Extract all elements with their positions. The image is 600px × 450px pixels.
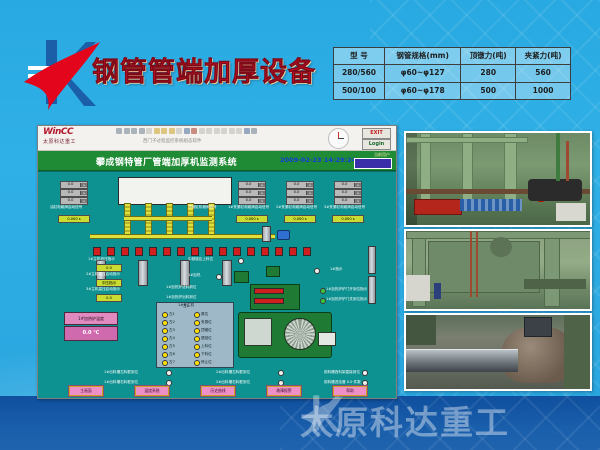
sensor-a1-label: 1#出料槽左料框到位 <box>104 371 138 375</box>
wincc-toolbar: WinCC 太原科达重工 <box>38 126 396 151</box>
redo-icon[interactable] <box>191 128 197 134</box>
slide-root: 钢管管端加厚设备 型 号 钢管规格(mm) 顶镦力(吨) 夹紧力(吨) 280/… <box>0 0 600 450</box>
cut-icon[interactable] <box>154 128 160 134</box>
photo-press-machine <box>404 229 592 311</box>
light-2-label: 1#加热炉炉门关到位指示 <box>326 298 367 302</box>
print-icon[interactable] <box>139 128 145 134</box>
flywheel-graphic <box>284 318 316 350</box>
left-reading: 0.000 s <box>58 215 90 223</box>
cylinder <box>222 260 232 286</box>
cylinder <box>138 260 148 286</box>
motor-graphic <box>277 230 290 240</box>
list-panel-title: 1#号主机 <box>178 304 194 308</box>
readout-box: 0.0s <box>60 181 88 189</box>
readout-box: 0.0s <box>60 197 88 205</box>
cell-clamp: 560 <box>516 65 571 82</box>
undo-icon[interactable] <box>184 128 190 134</box>
clock-icon <box>328 128 349 149</box>
grid-icon[interactable] <box>221 128 227 134</box>
sensor-lamp <box>166 370 172 376</box>
center-feed-lamp <box>238 258 244 264</box>
pump2-value: 中压指示 <box>96 279 122 287</box>
left-group-label: 油缸电磁阀启动信号 <box>50 206 82 210</box>
paste-icon[interactable] <box>169 128 175 134</box>
kd-logo <box>22 36 102 112</box>
scada-canvas: 0.0s 0.0s 0.0s 油缸电磁阀启动信号 0.000 s <box>38 171 396 399</box>
col-upset-force: 顶镦力(吨) <box>461 48 516 65</box>
sensor-a2-label: 1#出料槽右料框到位 <box>104 381 138 385</box>
light-1-label: 1#加热炉炉门开到位指示 <box>326 288 367 292</box>
toolbar-caption: 西门子过程监控系统组态软件 <box>143 138 202 144</box>
col-model: 型 号 <box>334 48 385 65</box>
pipe-horizontal <box>124 216 212 221</box>
pump1-value: 0.0 <box>96 264 122 272</box>
photo-pipe-closeup <box>404 313 592 391</box>
login-button[interactable]: Login <box>362 139 391 150</box>
pump3-value: 0.0 <box>96 294 122 302</box>
cylinder <box>368 246 376 274</box>
cell-upset: 500 <box>461 82 516 99</box>
wincc-subtitle: 太原科达重工 <box>43 138 76 145</box>
scada-window: WinCC 太原科达重工 <box>37 125 397 399</box>
sensor-lamp <box>278 370 284 376</box>
sep-icon <box>146 128 152 134</box>
machine-panel <box>244 318 272 346</box>
cylinder <box>368 276 376 304</box>
photo-rolling-line <box>404 131 592 227</box>
button-history-curve[interactable]: 历史曲线 <box>200 385 236 397</box>
zoom-out-icon[interactable] <box>214 128 220 134</box>
align-icon[interactable] <box>229 128 235 134</box>
button-fault-alarm[interactable]: 故障报警 <box>266 385 302 397</box>
open-icon[interactable] <box>124 128 130 134</box>
cylinder-graphic <box>262 226 271 242</box>
toolbar-icons[interactable] <box>116 128 257 134</box>
heat-in-label: 1#加热炉进料到位 <box>166 286 196 290</box>
readout-box: 0.0s <box>60 189 88 197</box>
pipe-horizontal <box>90 234 275 239</box>
page-title: 钢管管端加厚设备 <box>92 50 316 89</box>
green-indicator <box>266 266 280 277</box>
scada-timestamp: 2009-02-23 14:29:24 <box>280 156 356 164</box>
sensor-c1-label: 前料槽西料架直接到位 <box>324 371 360 375</box>
temperature-value: 0.0 ℃ <box>64 326 118 341</box>
sensor-b1-label: 2#出料槽左料框到位 <box>216 371 250 375</box>
heat-out-label: 1#加热炉出料到位 <box>166 296 196 300</box>
lamp-label: 1#指示 <box>330 268 343 272</box>
tank-graphic <box>118 177 232 205</box>
cell-size: φ60~φ127 <box>384 65 460 82</box>
lamp-indicator <box>314 268 320 274</box>
sensor-lamp <box>362 370 368 376</box>
current-user-field[interactable] <box>354 158 392 169</box>
button-temperature-system[interactable]: 温度系统 <box>134 385 170 397</box>
table-header-row: 型 号 钢管规格(mm) 顶镦力(吨) 夹紧力(吨) <box>334 48 571 65</box>
cell-model: 280/560 <box>334 65 385 82</box>
run-icon[interactable] <box>244 128 250 134</box>
pump3-label: 3#主机高压启动指示 <box>86 288 120 292</box>
wincc-logo: WinCC <box>43 127 73 137</box>
machine-box <box>318 332 336 346</box>
col-pipe-size: 钢管规格(mm) <box>384 48 460 65</box>
table-row: 500/100 φ60~φ178 500 1000 <box>334 82 571 99</box>
button-main-screen[interactable]: 主画面 <box>68 385 104 397</box>
pump1-label: 1#主机低压指示 <box>88 258 115 262</box>
cell-clamp: 1000 <box>516 82 571 99</box>
layers-icon[interactable] <box>236 128 242 134</box>
scada-title-bar: 攀成钢特管厂管端加厚机监测系统 2009-02-23 14:29:24 当前用户 <box>38 151 396 171</box>
scada-system-title: 攀成钢特管厂管端加厚机监测系统 <box>96 155 237 168</box>
sep2-icon <box>176 128 182 134</box>
spec-table: 型 号 钢管规格(mm) 顶镦力(吨) 夹紧力(吨) 280/560 φ60~φ… <box>333 47 571 100</box>
heater-block <box>234 271 249 283</box>
cell-model: 500/100 <box>334 82 385 99</box>
sep3-icon <box>199 128 205 134</box>
cell-upset: 280 <box>461 65 516 82</box>
heater-lamp <box>216 274 222 280</box>
temperature-label: 1#加热炉温度 <box>64 312 118 325</box>
col-clamp-force: 夹紧力(吨) <box>516 48 571 65</box>
new-icon[interactable] <box>116 128 122 134</box>
table-row: 280/560 φ60~φ127 280 560 <box>334 65 571 82</box>
center-feed-label: 中频感应上料位 <box>188 258 213 262</box>
save-icon[interactable] <box>131 128 137 134</box>
right-group-label-1: 顶镦缸机械阀信号 <box>188 206 217 210</box>
copy-icon[interactable] <box>161 128 167 134</box>
pump2-label: 2#主机高压启动指示 <box>86 273 120 277</box>
zoom-in-icon[interactable] <box>206 128 212 134</box>
cell-size: φ60~φ178 <box>384 82 460 99</box>
watermark-text: 太原科达重工 <box>300 396 510 444</box>
exit-button[interactable]: EXIT <box>362 128 391 139</box>
heater-label: 1#加热 <box>188 274 201 278</box>
settings-icon[interactable] <box>251 128 257 134</box>
